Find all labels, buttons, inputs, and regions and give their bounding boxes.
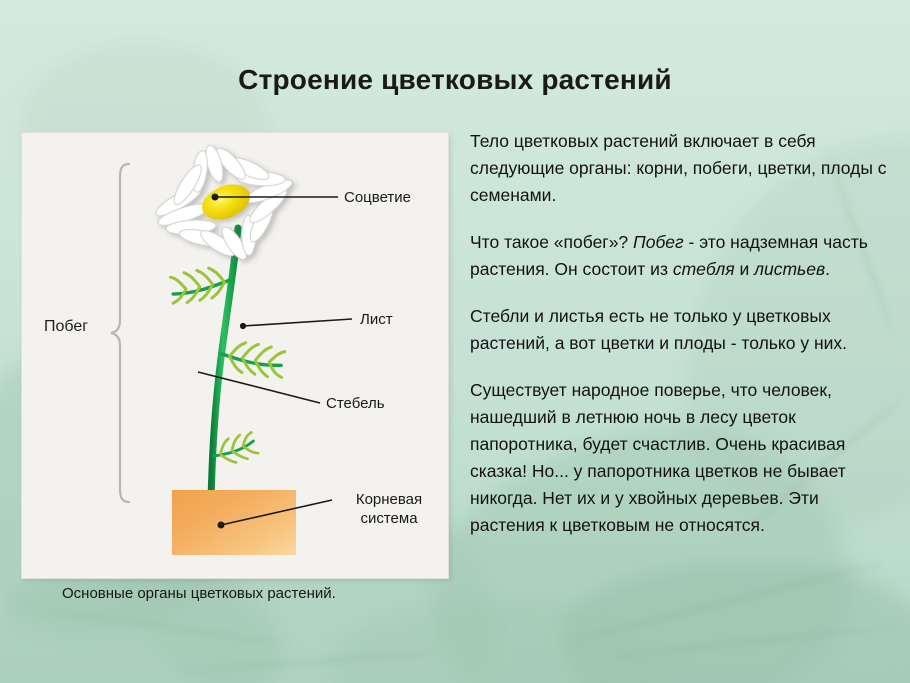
callout-label-kornevaya-line1: Корневая [356,491,422,508]
text-run: Стебли и листья есть не только у цветков… [470,306,847,353]
body-paragraph-3: Стебли и листья есть не только у цветков… [470,303,890,357]
slide-canvas: Строение цветковых растений Побег [0,0,910,683]
figure-caption: Основные органы цветковых растений. [62,585,336,602]
emphasized-term: листьев [754,259,825,279]
text-run: Тело цветковых растений включает в себя … [470,131,887,205]
text-run: и [735,259,755,279]
figure-panel: Побег [22,133,448,578]
emphasized-term: Побег [633,232,684,252]
callout-label-list: Лист [360,310,393,329]
callout-label-kornevaya-line2: система [360,510,417,527]
body-text-column: Тело цветковых растений включает в себя … [470,128,890,539]
callout-label-socvetie: Соцветие [344,188,411,207]
body-paragraph-4: Существует народное поверье, что человек… [470,377,890,539]
callout-label-kornevaya-sistema: Корневая система [336,490,442,528]
text-run: Существует народное поверье, что человек… [470,380,846,535]
page-title: Строение цветковых растений [0,64,910,96]
text-run: . [825,259,830,279]
callout-label-stebel: Стебель [326,394,385,413]
text-run: Что такое «побег»? [470,232,633,252]
body-paragraph-2: Что такое «побег»? Побег - это надземная… [470,229,890,283]
body-paragraph-1: Тело цветковых растений включает в себя … [470,128,890,209]
emphasized-term: стебля [673,259,735,279]
